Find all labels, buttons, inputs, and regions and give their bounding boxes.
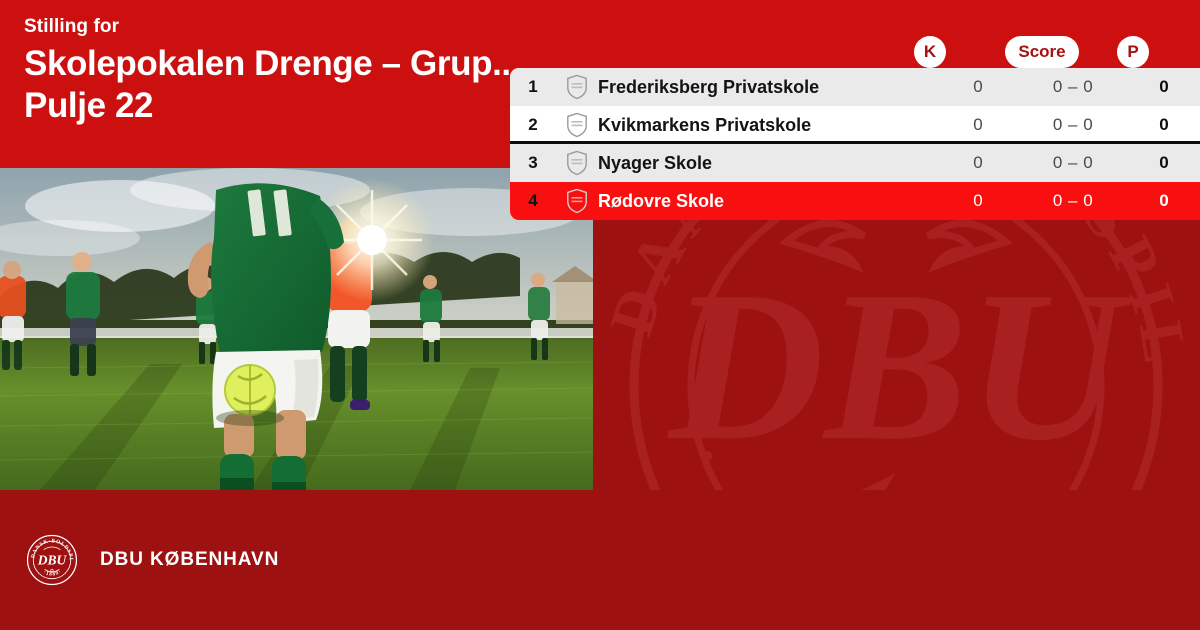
team-crest-icon	[556, 188, 598, 214]
team-crest-icon	[556, 150, 598, 176]
row-team-name: Frederiksberg Privatskole	[598, 77, 938, 98]
row-score: 0 – 0	[1018, 191, 1128, 211]
team-crest-icon	[556, 112, 598, 138]
page-title-line1: Skolepokalen Drenge – Grup...	[24, 43, 524, 85]
page-kicker: Stilling for	[24, 16, 524, 38]
row-matches-played: 0	[938, 153, 1018, 173]
dbu-logo-icon: DANSK·BOLDSPIL·UNION ·1889· DBU	[26, 534, 78, 586]
column-header-score: Score	[1005, 36, 1079, 68]
row-rank: 2	[510, 115, 556, 135]
row-team-name: Kvikmarkens Privatskole	[598, 115, 938, 136]
page-title-line2: Pulje 22	[24, 85, 524, 127]
row-rank: 1	[510, 77, 556, 97]
row-score: 0 – 0	[1018, 77, 1128, 97]
table-row-highlighted[interactable]: 4 Rødovre Skole 0 0 – 0 0	[510, 182, 1200, 220]
svg-text:DBU: DBU	[667, 246, 1133, 485]
row-score: 0 – 0	[1018, 153, 1128, 173]
standings-table: 1 Frederiksberg Privatskole 0 0 – 0 0 2	[510, 68, 1200, 220]
table-row[interactable]: 2 Kvikmarkens Privatskole 0 0 – 0 0	[510, 106, 1200, 144]
row-score: 0 – 0	[1018, 115, 1128, 135]
row-rank: 4	[510, 191, 556, 211]
table-row[interactable]: 3 Nyager Skole 0 0 – 0 0	[510, 144, 1200, 182]
table-row[interactable]: 1 Frederiksberg Privatskole 0 0 – 0 0	[510, 68, 1200, 106]
row-points: 0	[1128, 191, 1200, 211]
row-points: 0	[1128, 77, 1200, 97]
team-crest-icon	[556, 74, 598, 100]
svg-text:DBU: DBU	[37, 553, 68, 568]
row-team-name: Rødovre Skole	[598, 191, 938, 212]
football-photo	[0, 168, 593, 490]
column-header-p: P	[1117, 36, 1149, 68]
column-header-k: K	[914, 36, 946, 68]
footer: DANSK·BOLDSPIL·UNION ·1889· DBU DBU KØBE…	[0, 490, 1200, 630]
row-matches-played: 0	[938, 115, 1018, 135]
share-card: DANSK · BOLDSPIL · · 1889 · DBU	[0, 0, 1200, 630]
row-points: 0	[1128, 153, 1200, 173]
title-block: Stilling for Skolepokalen Drenge – Grup.…	[24, 16, 524, 127]
row-rank: 3	[510, 153, 556, 173]
page-title: Skolepokalen Drenge – Grup... Pulje 22	[24, 43, 524, 127]
row-matches-played: 0	[938, 191, 1018, 211]
row-matches-played: 0	[938, 77, 1018, 97]
table-column-headers: K Score P	[510, 36, 1200, 70]
row-points: 0	[1128, 115, 1200, 135]
organisation-name: DBU KØBENHAVN	[100, 549, 279, 571]
row-team-name: Nyager Skole	[598, 153, 938, 174]
